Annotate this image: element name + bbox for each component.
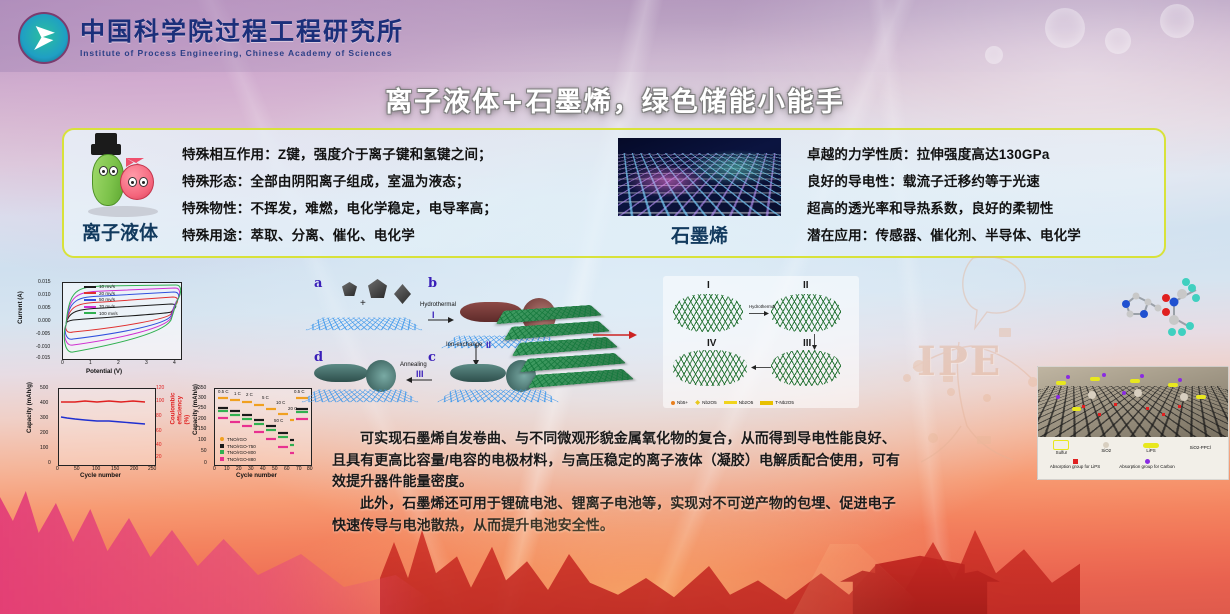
cycling-ylabel: Capacity (mAh/g) bbox=[26, 382, 33, 433]
lips-legend-label: Absorption group for Carbon bbox=[1119, 464, 1174, 470]
lithium-sulfur-adsorption-schematic: Sulfur SiO2 LiPS SiO2-PPCl Absorption gr… bbox=[1037, 366, 1229, 480]
nb-panel-II: II bbox=[803, 280, 809, 291]
poster-body-text: 可实现石墨烯自发卷曲、与不同微观形貌金属氧化物的复合，从而得到导电性能良好、且具… bbox=[332, 428, 902, 536]
arrow-right-icon bbox=[749, 310, 769, 317]
nb-panel-IV: IV bbox=[707, 338, 716, 349]
tiananmen-gate-silhouette bbox=[840, 552, 1000, 614]
graphene-visual-block: 石墨烯 bbox=[612, 138, 787, 248]
arrow-left-icon bbox=[751, 364, 771, 371]
cv-ylabel: Current (A) bbox=[17, 291, 24, 324]
rate-legend-label: TNO/rGO-800 bbox=[227, 450, 256, 455]
lips-legend-label: LiPS bbox=[1146, 448, 1155, 454]
plus-sign: + bbox=[360, 298, 366, 309]
cv-ytick: 0.005 bbox=[38, 305, 51, 311]
cycling-xtick: 250 bbox=[148, 466, 156, 472]
mascot-shadow bbox=[88, 206, 158, 217]
institute-branding: 中国科学院过程工程研究所 Institute of Process Engine… bbox=[18, 12, 404, 64]
rate-xtick: 80 bbox=[307, 466, 313, 472]
arrow-down-icon bbox=[472, 344, 480, 366]
cycling-y2tick: 120 bbox=[156, 385, 164, 391]
stacked-composite-sheets bbox=[495, 296, 645, 392]
rate-xtick: 50 bbox=[272, 466, 278, 472]
nb-panel-I: I bbox=[707, 280, 710, 291]
institute-name-block: 中国科学院过程工程研究所 Institute of Process Engine… bbox=[80, 19, 404, 58]
ipe-bird-logo-icon bbox=[18, 12, 70, 64]
cv-legend-label: 20 mv/s bbox=[99, 291, 115, 296]
graphene-feature-list: 卓越的力学性质：拉伸强度高达130GPa 良好的导电性：载流子迁移约等于光速 超… bbox=[787, 143, 1164, 244]
cv-ytick: -0.015 bbox=[36, 355, 50, 361]
lips-species bbox=[1038, 367, 1228, 437]
lips-render bbox=[1038, 367, 1228, 437]
graphene-feature-1: 卓越的力学性质：拉伸强度高达130GPa bbox=[807, 143, 1164, 163]
arrow-right-icon bbox=[593, 328, 637, 342]
go-flake bbox=[673, 294, 743, 332]
cycling-ytick: 200 bbox=[40, 430, 48, 436]
cycling-xtick: 100 bbox=[92, 466, 100, 472]
cv-legend: 10 mv/s 20 mv/s 50 mv/s 70 mv/s 100 mv/s bbox=[84, 284, 118, 317]
graphene-sheet bbox=[306, 318, 423, 330]
poster-header: 中国科学院过程工程研究所 Institute of Process Engine… bbox=[0, 0, 1230, 72]
cycling-y2tick: 60 bbox=[156, 428, 162, 434]
scheme-panel-letter-b: b bbox=[428, 276, 437, 291]
cv-ytick: 0.010 bbox=[38, 292, 51, 298]
rate-annot: 5 C bbox=[262, 395, 269, 400]
nb2o5-graphene-formation-scheme: I II III IV Hydrothermal Nb5+ Nb2O5 Nb2O… bbox=[663, 276, 859, 408]
pink-mascot bbox=[120, 164, 154, 200]
cv-xtick: 1 bbox=[89, 360, 92, 366]
ipe-watermark-text: IPE bbox=[917, 338, 1002, 385]
rate-annot: 20 C bbox=[288, 406, 297, 411]
ionic-liquid-label: 离子液体 bbox=[64, 218, 176, 245]
step-hydrothermal-label: Hydrothermal bbox=[420, 302, 456, 308]
graphene-feature-4: 潜在应用：传感器、催化剂、半导体、电化学 bbox=[807, 224, 1164, 244]
nb-legend: Nb5+ Nb2O5 Nb2O5 T-Nb2O5 bbox=[671, 400, 855, 405]
cycling-ytick: 300 bbox=[40, 415, 48, 421]
graphene-feature-3: 超高的透光率和导热系数，良好的柔韧性 bbox=[807, 197, 1164, 217]
rate-legend-label: TNO/rGO-750 bbox=[227, 444, 256, 449]
ionic-liquid-feature-list: 特殊相互作用：Z键，强度介于离子键和氢键之间； 特殊形态：全部由阴阳离子组成，室… bbox=[176, 143, 612, 244]
arrow-right-icon bbox=[428, 316, 454, 324]
nb-step-label: Hydrothermal bbox=[749, 304, 775, 309]
molecule-structure bbox=[1118, 268, 1230, 352]
ionic-liquid-mascot-icon: 离子液体 bbox=[64, 130, 176, 256]
nb-legend-item: Nb5+ bbox=[671, 400, 688, 405]
poster-title: 离子液体+石墨烯，绿色储能小能手 bbox=[0, 80, 1230, 119]
poster-canvas: 中国科学院过程工程研究所 Institute of Process Engine… bbox=[0, 0, 1230, 614]
final-tube-end bbox=[366, 360, 396, 392]
scheme-panel-letter-d: d bbox=[314, 350, 323, 365]
cyclic-voltammetry-chart: 10 mv/s 20 mv/s 50 mv/s 70 mv/s 100 mv/s… bbox=[20, 276, 190, 380]
rate-xtick: 0 bbox=[213, 466, 216, 472]
rate-ytick: 100 bbox=[198, 437, 206, 443]
rate-capability-chart: 0.5 C 1 C 2 C 5 C 10 C 20 C 50 C 0.5 C T… bbox=[188, 380, 316, 488]
scheme-panel-letter-a: a bbox=[314, 276, 322, 291]
institute-name-cn: 中国科学院过程工程研究所 bbox=[80, 19, 404, 44]
rate-xtick: 30 bbox=[248, 466, 254, 472]
rate-ytick: 150 bbox=[198, 426, 206, 432]
cv-ytick: 0.000 bbox=[38, 318, 51, 324]
cv-legend-label: 70 mv/s bbox=[99, 304, 115, 309]
rate-xtick: 60 bbox=[284, 466, 290, 472]
ionic-liquid-molecule-icon bbox=[1118, 268, 1230, 352]
body-paragraph-2: 此外，石墨烯还可用于锂硫电池、锂离子电池等，实现对不可逆产物的包埋、促进电子快速… bbox=[332, 493, 902, 536]
cycling-stability-chart: Capacity (mAh/g) Coulombic efficiency (%… bbox=[18, 380, 193, 488]
rate-legend-label: TNO/rGO-880 bbox=[227, 457, 256, 462]
lips-legend-label: SiO2-PPCl bbox=[1190, 445, 1211, 451]
rate-annot: 1 C bbox=[234, 391, 241, 396]
rate-ytick: 250 bbox=[198, 405, 206, 411]
nb-legend-item: Nb2O5 bbox=[724, 400, 754, 405]
cv-ytick: -0.010 bbox=[36, 344, 50, 350]
cv-xtick: 2 bbox=[117, 360, 120, 366]
ionic-liquid-feature-2: 特殊形态：全部由阴阳离子组成，室温为液态； bbox=[182, 170, 612, 190]
lips-legend: Sulfur SiO2 LiPS SiO2-PPCl Absorption gr… bbox=[1038, 437, 1228, 479]
cycling-xtick: 50 bbox=[74, 466, 80, 472]
ionic-liquid-feature-3: 特殊物性：不挥发，难燃，电化学稳定，电导率高； bbox=[182, 197, 612, 217]
rate-xtick: 40 bbox=[260, 466, 266, 472]
cv-xtick: 3 bbox=[145, 360, 148, 366]
cycling-xtick: 0 bbox=[56, 466, 59, 472]
body-paragraph-1: 可实现石墨烯自发卷曲、与不同微观形貌金属氧化物的复合，从而得到导电性能良好、且具… bbox=[332, 428, 902, 493]
graphene-sheet bbox=[302, 390, 419, 402]
rate-xtick: 20 bbox=[236, 466, 242, 472]
rate-xtick: 70 bbox=[296, 466, 302, 472]
cv-ytick: -0.005 bbox=[36, 331, 50, 337]
lips-legend-label: Sulfur bbox=[1056, 450, 1067, 456]
cycling-ytick: 100 bbox=[40, 445, 48, 451]
cv-xtick: 0 bbox=[61, 360, 64, 366]
cycling-xlabel: Cycle number bbox=[80, 472, 121, 479]
graphene-label: 石墨烯 bbox=[612, 221, 787, 248]
cv-xtick: 4 bbox=[173, 360, 176, 366]
ionic-liquid-feature-1: 特殊相互作用：Z键，强度介于离子键和氢键之间； bbox=[182, 143, 612, 163]
cycling-y2tick: 80 bbox=[156, 413, 162, 419]
cycling-y2tick: 20 bbox=[156, 454, 162, 460]
rate-xtick: 10 bbox=[224, 466, 230, 472]
scheme-panel-letter-c: c bbox=[428, 350, 436, 365]
cv-ytick: 0.015 bbox=[38, 279, 51, 285]
tnb-flake bbox=[673, 350, 747, 386]
cycling-y2tick: 100 bbox=[156, 398, 164, 404]
rate-ytick: 0 bbox=[204, 460, 207, 466]
rate-ytick: 50 bbox=[201, 448, 207, 454]
sulfur-icon bbox=[1053, 440, 1069, 450]
final-tube bbox=[314, 364, 368, 382]
lips-legend-label: SiO2 bbox=[1101, 448, 1111, 454]
nb-flake bbox=[771, 350, 841, 386]
cycling-xtick: 200 bbox=[130, 466, 138, 472]
cv-legend-label: 50 mv/s bbox=[99, 297, 115, 302]
nb-legend-item: T-Nb2O5 bbox=[760, 400, 794, 405]
rate-legend: TNO/rGO TNO/rGO-750 TNO/rGO-800 TNO/rGO-… bbox=[220, 437, 256, 464]
rate-annot: 0.5 C bbox=[218, 389, 229, 394]
rate-ytick: 350 bbox=[198, 385, 206, 391]
rate-annot: 2 C bbox=[246, 392, 253, 397]
road-light-decor bbox=[600, 544, 1060, 614]
graphene-feature-2: 良好的导电性：载流子迁移约等于光速 bbox=[807, 170, 1164, 190]
rate-annot: 10 C bbox=[276, 400, 285, 405]
rate-annot: 50 C bbox=[274, 418, 283, 423]
cycling-curves bbox=[59, 389, 155, 465]
institute-name-en: Institute of Process Engineering, Chines… bbox=[80, 49, 404, 58]
cycling-y2tick: 40 bbox=[156, 442, 162, 448]
ionic-liquid-feature-4: 特殊用途：萃取、分离、催化、电化学 bbox=[182, 224, 612, 244]
feature-comparison-panel: 离子液体 特殊相互作用：Z键，强度介于离子键和氢键之间； 特殊形态：全部由阴阳离… bbox=[62, 128, 1166, 258]
rate-legend-label: TNO/rGO bbox=[227, 437, 247, 442]
cycling-ytick: 0 bbox=[48, 460, 51, 466]
oxide-crystal bbox=[342, 282, 357, 296]
cycling-xtick: 150 bbox=[111, 466, 119, 472]
nb-legend-item: Nb2O5 bbox=[695, 400, 717, 405]
arrow-down-icon bbox=[811, 334, 818, 350]
rate-ytick: 300 bbox=[198, 395, 206, 401]
rate-ytick: 200 bbox=[198, 416, 206, 422]
go-flake bbox=[771, 294, 841, 332]
cv-curves bbox=[63, 283, 181, 359]
graphene-sheet-render-icon bbox=[618, 138, 781, 216]
cv-xlabel: Potential (V) bbox=[86, 368, 122, 375]
step-ionexchange-num: II bbox=[486, 340, 491, 350]
cycling-ytick: 400 bbox=[40, 400, 48, 406]
cv-legend-label: 100 mv/s bbox=[99, 311, 118, 316]
rate-xlabel: Cycle number bbox=[236, 472, 277, 479]
step-annealing-label: Annealing bbox=[400, 362, 427, 368]
oxide-crystal bbox=[368, 279, 387, 298]
cv-legend-label: 10 mv/s bbox=[99, 284, 115, 289]
cycling-ytick: 500 bbox=[40, 385, 48, 391]
arrow-left-icon bbox=[406, 376, 432, 384]
lips-legend-label: Absorption group for LiPS bbox=[1050, 464, 1100, 470]
oxide-crystal bbox=[394, 284, 411, 304]
